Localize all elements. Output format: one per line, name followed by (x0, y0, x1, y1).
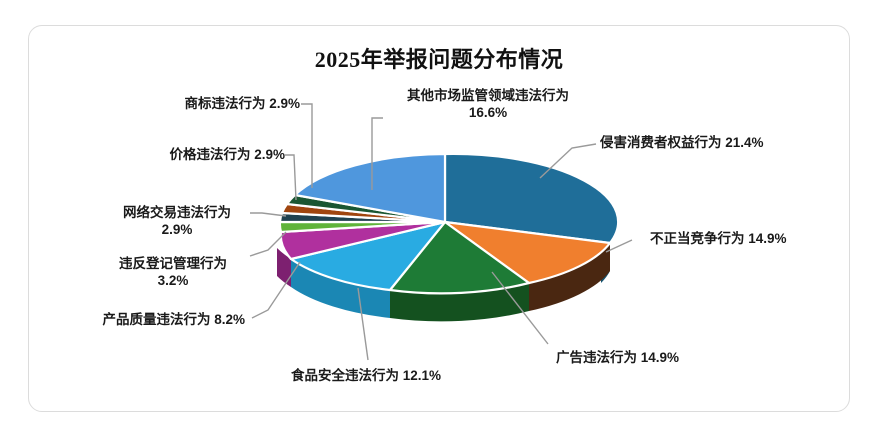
slice-label-other-line2: 16.6% (383, 105, 593, 122)
slice-label-ecommerce-line2: 2.9% (104, 222, 250, 239)
slice-label-food: 食品安全违法行为 12.1% (266, 368, 466, 385)
slice-label-register: 违反登记管理行为 3.2% (100, 256, 246, 290)
slice-label-consumer-line1: 侵害消费者权益行为 21.4% (600, 135, 764, 150)
slice-label-quality-line1: 产品质量违法行为 8.2% (102, 312, 245, 327)
slice-label-consumer: 侵害消费者权益行为 21.4% (600, 135, 764, 152)
slice-label-other: 其他市场监管领域违法行为 16.6% (383, 88, 593, 122)
slice-label-register-line2: 3.2% (100, 273, 246, 290)
slice-label-food-line1: 食品安全违法行为 12.1% (291, 368, 441, 383)
slice-label-unfair: 不正当竞争行为 14.9% (650, 231, 787, 248)
page-title: 2025年举报问题分布情况 (29, 42, 849, 74)
slice-label-ecommerce-line1: 网络交易违法行为 (123, 205, 231, 220)
slice-label-quality: 产品质量违法行为 8.2% (55, 312, 245, 329)
slice-label-register-line1: 违反登记管理行为 (119, 256, 227, 271)
chart-screenshot: 2025年举报问题分布情况 (0, 0, 885, 447)
slice-label-trademark: 商标违法行为 2.9% (110, 96, 300, 113)
slice-label-other-line1: 其他市场监管领域违法行为 (407, 88, 569, 103)
slice-label-ecommerce: 网络交易违法行为 2.9% (104, 205, 250, 239)
slice-label-unfair-line1: 不正当竞争行为 14.9% (650, 231, 787, 246)
slice-label-ad-line1: 广告违法行为 14.9% (556, 350, 679, 365)
slice-label-price: 价格违法行为 2.9% (95, 147, 285, 164)
slice-label-ad: 广告违法行为 14.9% (556, 350, 679, 367)
slice-label-trademark-line1: 商标违法行为 2.9% (184, 96, 300, 111)
slice-label-price-line1: 价格违法行为 2.9% (169, 147, 285, 162)
